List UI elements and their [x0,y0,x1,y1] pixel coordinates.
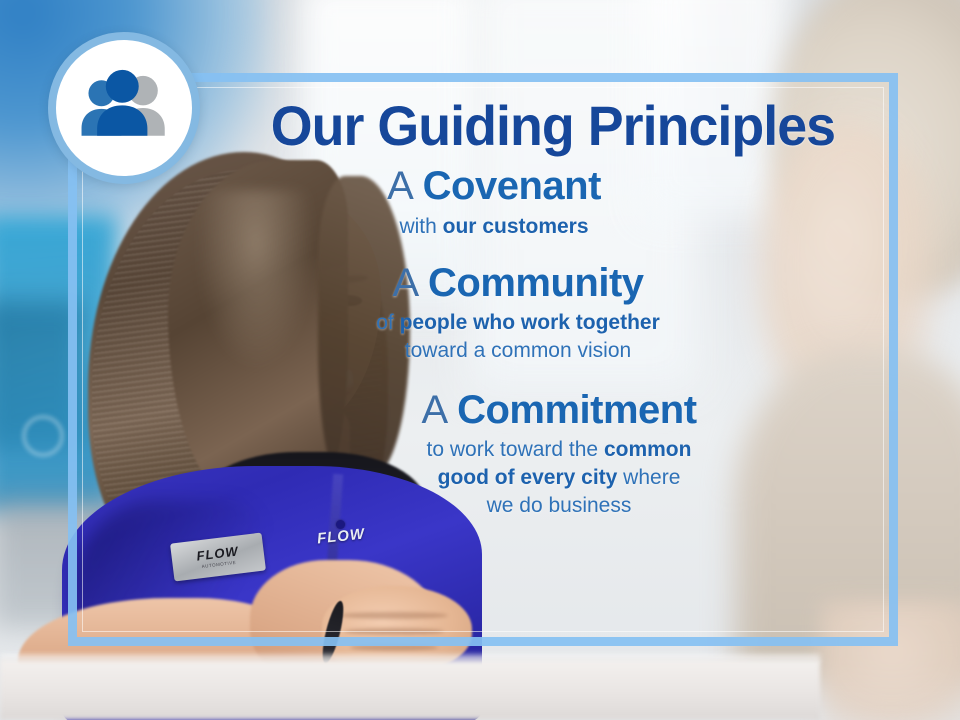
principle-lead-word: A [392,261,428,305]
principle-block-community: A Community of people who work together … [120,263,890,366]
subtext-line: with our customers [399,213,588,241]
principle-block-covenant: A Covenant with our customers [120,166,890,241]
principle-keyword-covenant: Covenant [423,164,601,208]
desk-surface [0,660,820,720]
principle-heading-covenant: A Covenant [387,166,601,208]
principle-heading-commitment: A Commitment [421,390,696,432]
subtext-line: toward a common vision [376,337,660,365]
principle-keyword-community: Community [428,261,644,305]
principle-subtext-commitment: to work toward the common good of every … [427,436,692,520]
principle-block-commitment: A Commitment to work toward the common g… [120,390,890,521]
principle-subtext-community: of people who work together toward a com… [376,309,660,365]
subtext-line: to work toward the common [427,436,692,464]
hand-finger-line-3 [350,644,438,651]
principle-heading-community: A Community [392,263,643,305]
subtext-bold: people who work together [400,311,660,334]
principle-lead-word: A [387,164,423,208]
text-content-area: Our Guiding Principles A Covenant with o… [120,86,890,634]
page-title: Our Guiding Principles [271,98,835,154]
principle-subtext-covenant: with our customers [399,213,588,241]
principle-lead-word: A [421,388,457,432]
subtext-bold: good of every city [438,466,618,489]
subtext-normal: with [399,215,442,238]
subtext-line: we do business [427,492,692,520]
principle-keyword-commitment: Commitment [457,388,696,432]
subtext-normal: of [376,311,399,334]
subtext-bold: common [604,438,692,461]
subtext-line: of people who work together [376,309,660,337]
subtext-bold: our customers [443,215,589,238]
subtext-line: good of every city where [427,464,692,492]
subtext-normal-after: where [617,466,680,489]
banner-canvas: FLOW AUTOMOTIVE FLOW [0,0,960,720]
subtext-normal: to work toward the [427,438,604,461]
